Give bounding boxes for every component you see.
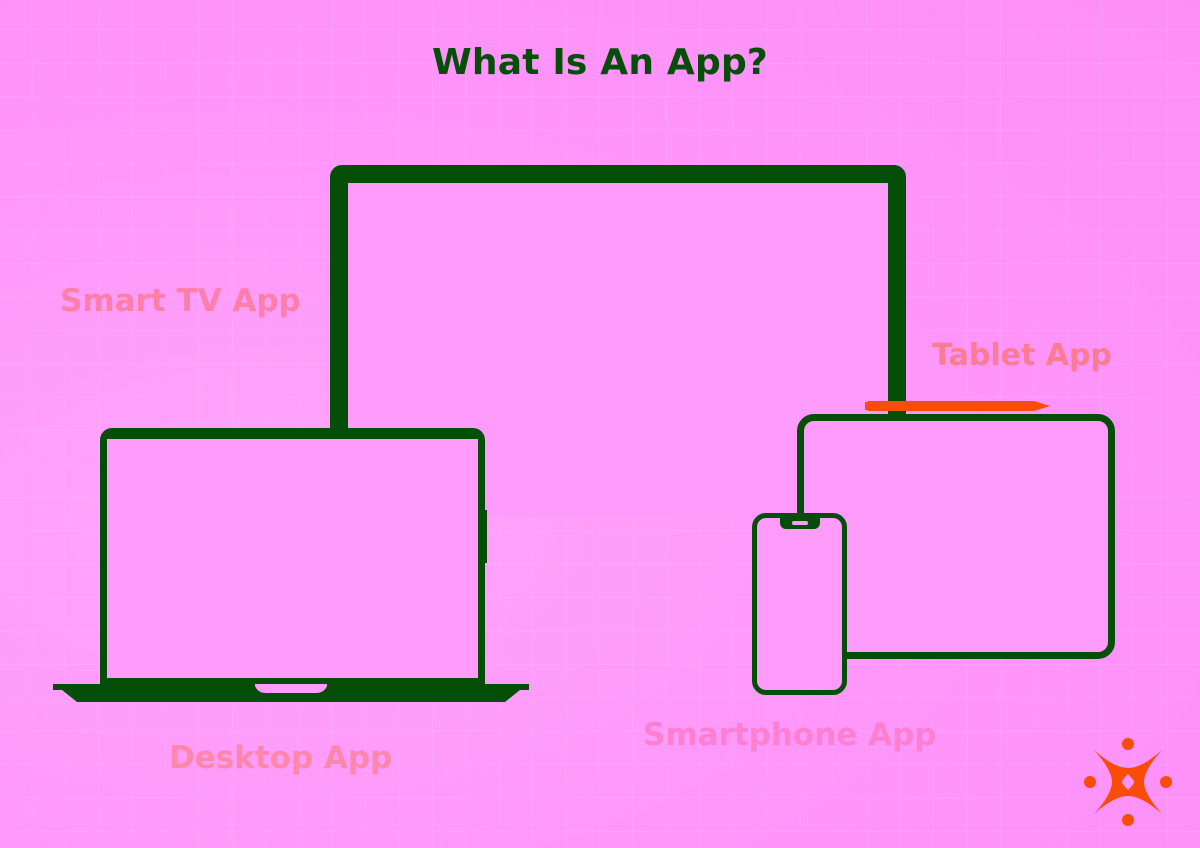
stylus-icon [862, 400, 1050, 412]
infographic-canvas: What Is An App? Smart TV App Tablet App … [0, 0, 1200, 848]
label-smart-tv-app: Smart TV App [60, 283, 301, 319]
page-title: What Is An App? [0, 42, 1200, 83]
laptop-base [50, 684, 532, 706]
smartphone-body [752, 513, 847, 695]
smartphone-icon [752, 513, 847, 695]
laptop-icon [50, 428, 532, 706]
label-desktop-app: Desktop App [169, 740, 392, 776]
four-point-star-logo [1084, 738, 1172, 826]
label-tablet-app: Tablet App [932, 338, 1112, 373]
label-smartphone-app: Smartphone App [643, 717, 936, 753]
laptop-screen [107, 439, 478, 678]
smartphone-speaker [792, 521, 808, 525]
